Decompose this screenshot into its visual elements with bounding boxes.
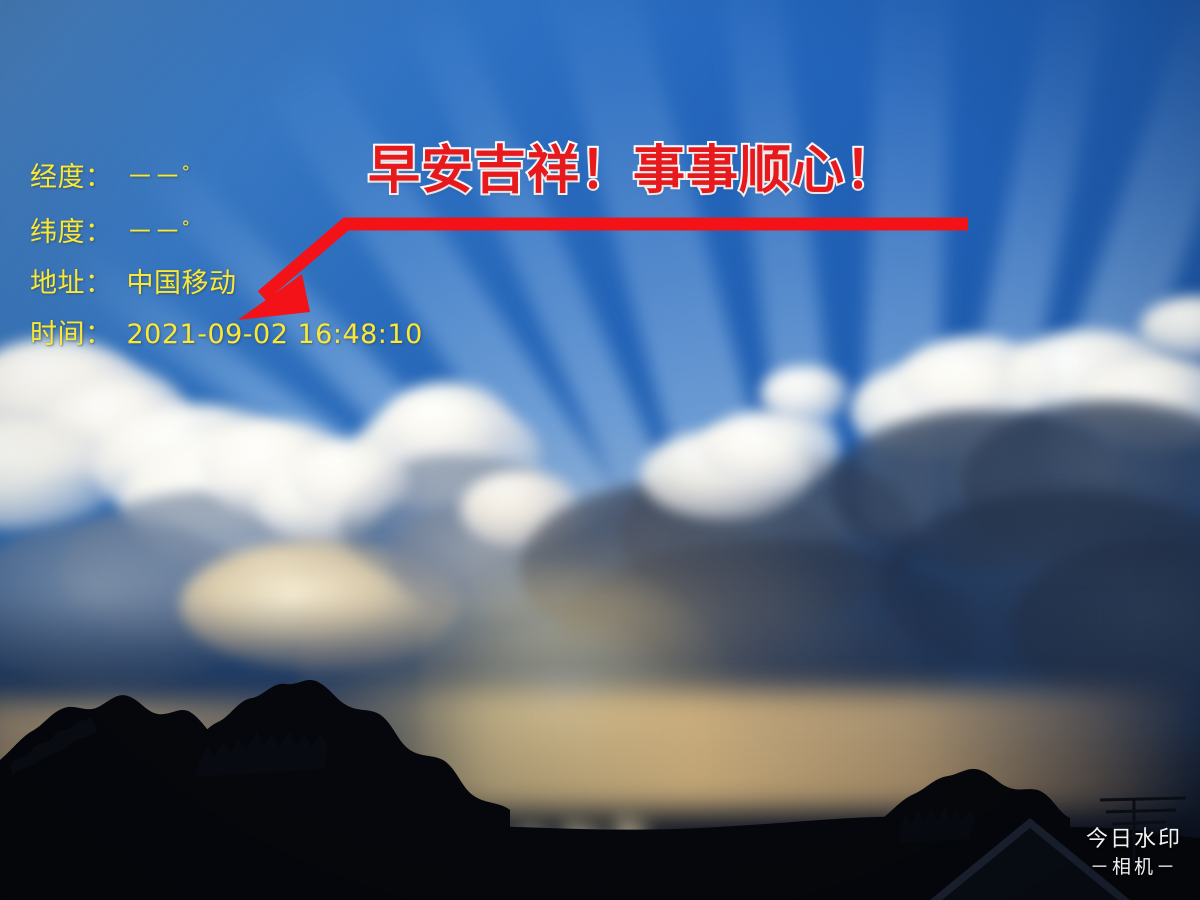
address-label: 地址：	[30, 258, 113, 309]
address-value: 中国移动	[127, 258, 237, 309]
watermark-row-address: 地址：中国移动	[30, 258, 590, 309]
watermark-row-latitude: 纬度：－－°	[30, 203, 590, 258]
degree-symbol: °	[182, 163, 191, 183]
time-value: 2021-09-02 16:48:10	[127, 309, 423, 360]
watermark-row-time: 时间：2021-09-02 16:48:10	[30, 309, 590, 360]
longitude-label: 经度：	[30, 152, 113, 203]
watermark-camera-logo: 今日水印 －相机－	[1086, 826, 1182, 880]
logo-main-text: 今日水印	[1086, 826, 1182, 854]
watermarked-sunset-photo: 经度：－－° 纬度：－－° 地址：中国移动 时间：2021-09-02 16:4…	[0, 0, 1200, 900]
time-label: 时间：	[30, 309, 113, 360]
longitude-value: －－	[127, 152, 182, 203]
logo-sub-text: －相机－	[1086, 854, 1182, 880]
latitude-label: 纬度：	[30, 207, 113, 258]
latitude-value: －－	[127, 207, 182, 258]
degree-symbol: °	[182, 218, 191, 238]
greeting-headline: 早安吉祥！事事顺心！	[368, 128, 898, 203]
